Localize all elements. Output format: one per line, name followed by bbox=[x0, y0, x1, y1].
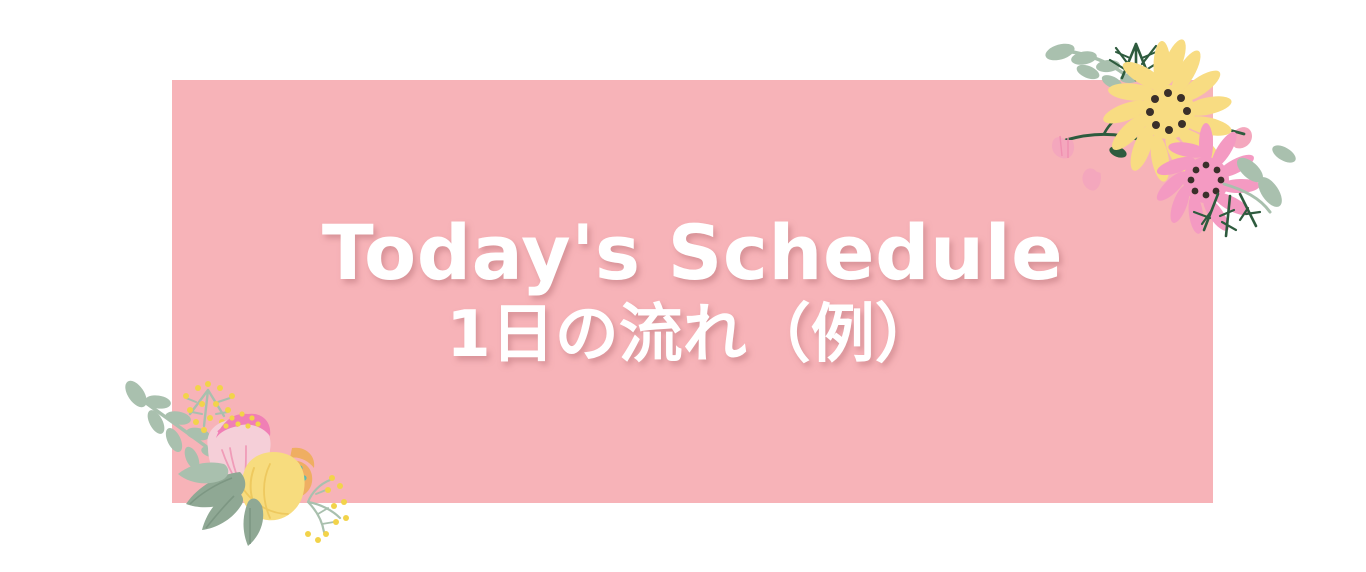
banner-subtitle: 1日の流れ（例） bbox=[446, 300, 939, 370]
banner-text-block: Today's Schedule 1日の流れ（例） bbox=[172, 80, 1213, 503]
banner-canvas: Today's Schedule 1日の流れ（例） bbox=[0, 0, 1366, 572]
pink-bud-right bbox=[1220, 127, 1252, 148]
dark-green-sprig-top bbox=[1110, 44, 1162, 80]
banner-title: Today's Schedule bbox=[322, 212, 1063, 294]
sage-leaf-branch-lower-right bbox=[1224, 142, 1296, 212]
